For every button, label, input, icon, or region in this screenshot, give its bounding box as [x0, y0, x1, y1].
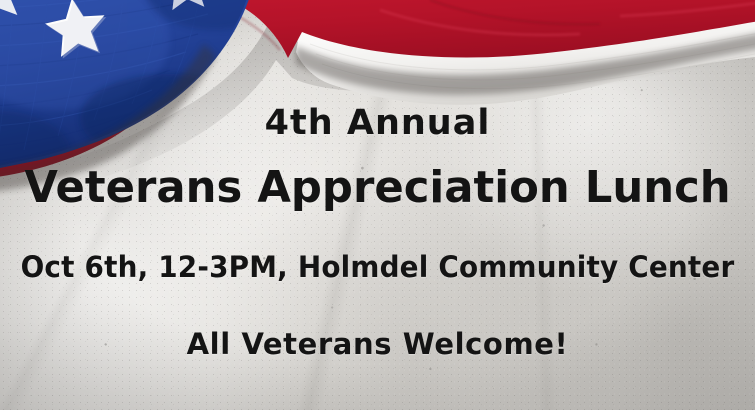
poster-text-block: 4th Annual Veterans Appreciation Lunch O… — [0, 0, 755, 410]
headline-line-2: Veterans Appreciation Lunch — [6, 163, 750, 213]
event-details: Oct 6th, 12-3PM, Holmdel Community Cente… — [15, 250, 740, 284]
event-flyer: 4th Annual Veterans Appreciation Lunch O… — [0, 0, 755, 410]
headline-line-1: 4th Annual — [0, 103, 755, 143]
welcome-message: All Veterans Welcome! — [0, 327, 755, 361]
